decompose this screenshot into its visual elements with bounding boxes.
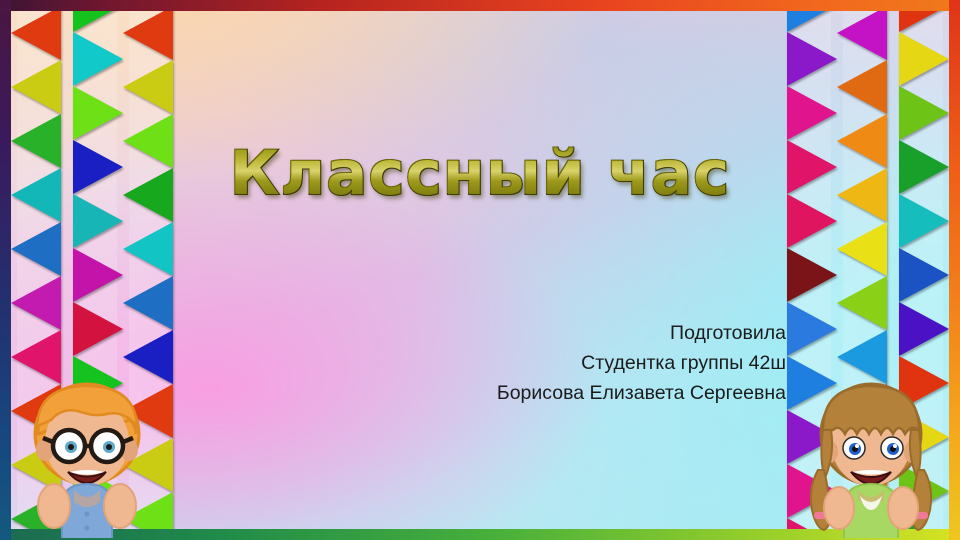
decor-triangle — [899, 32, 949, 86]
decor-triangle — [837, 276, 887, 330]
frame-bar-top — [0, 0, 960, 11]
decor-triangle — [899, 248, 949, 302]
decor-triangle — [787, 32, 837, 86]
decor-triangle — [73, 86, 123, 140]
decor-triangle — [11, 276, 61, 330]
decor-triangle — [837, 60, 887, 114]
decor-triangle — [123, 60, 173, 114]
decor-triangle — [123, 6, 173, 60]
frame-bar-right — [949, 0, 960, 540]
decor-triangle — [899, 86, 949, 140]
decor-triangle — [787, 248, 837, 302]
author-block: Подготовила Студентка группы 42ш Борисов… — [366, 318, 786, 408]
decor-triangle — [123, 222, 173, 276]
decor-triangle — [11, 222, 61, 276]
decor-triangle — [837, 222, 887, 276]
girl-cartoon — [796, 338, 946, 538]
decor-triangle — [787, 86, 837, 140]
author-line-name: Борисова Елизавета Сергеевна — [366, 378, 786, 408]
slide-title: Классный час — [0, 143, 960, 204]
author-line-prepared-by: Подготовила — [366, 318, 786, 348]
decor-triangle — [73, 32, 123, 86]
decor-triangle — [11, 60, 61, 114]
decor-triangle — [837, 6, 887, 60]
decor-triangle — [123, 276, 173, 330]
frame-bar-left — [0, 0, 11, 540]
presentation-slide: Классный час Классный час Подготовила Ст… — [0, 0, 960, 540]
decor-triangle — [73, 248, 123, 302]
boy-cartoon — [12, 338, 162, 538]
author-line-group: Студентка группы 42ш — [366, 348, 786, 378]
decor-triangle — [11, 6, 61, 60]
